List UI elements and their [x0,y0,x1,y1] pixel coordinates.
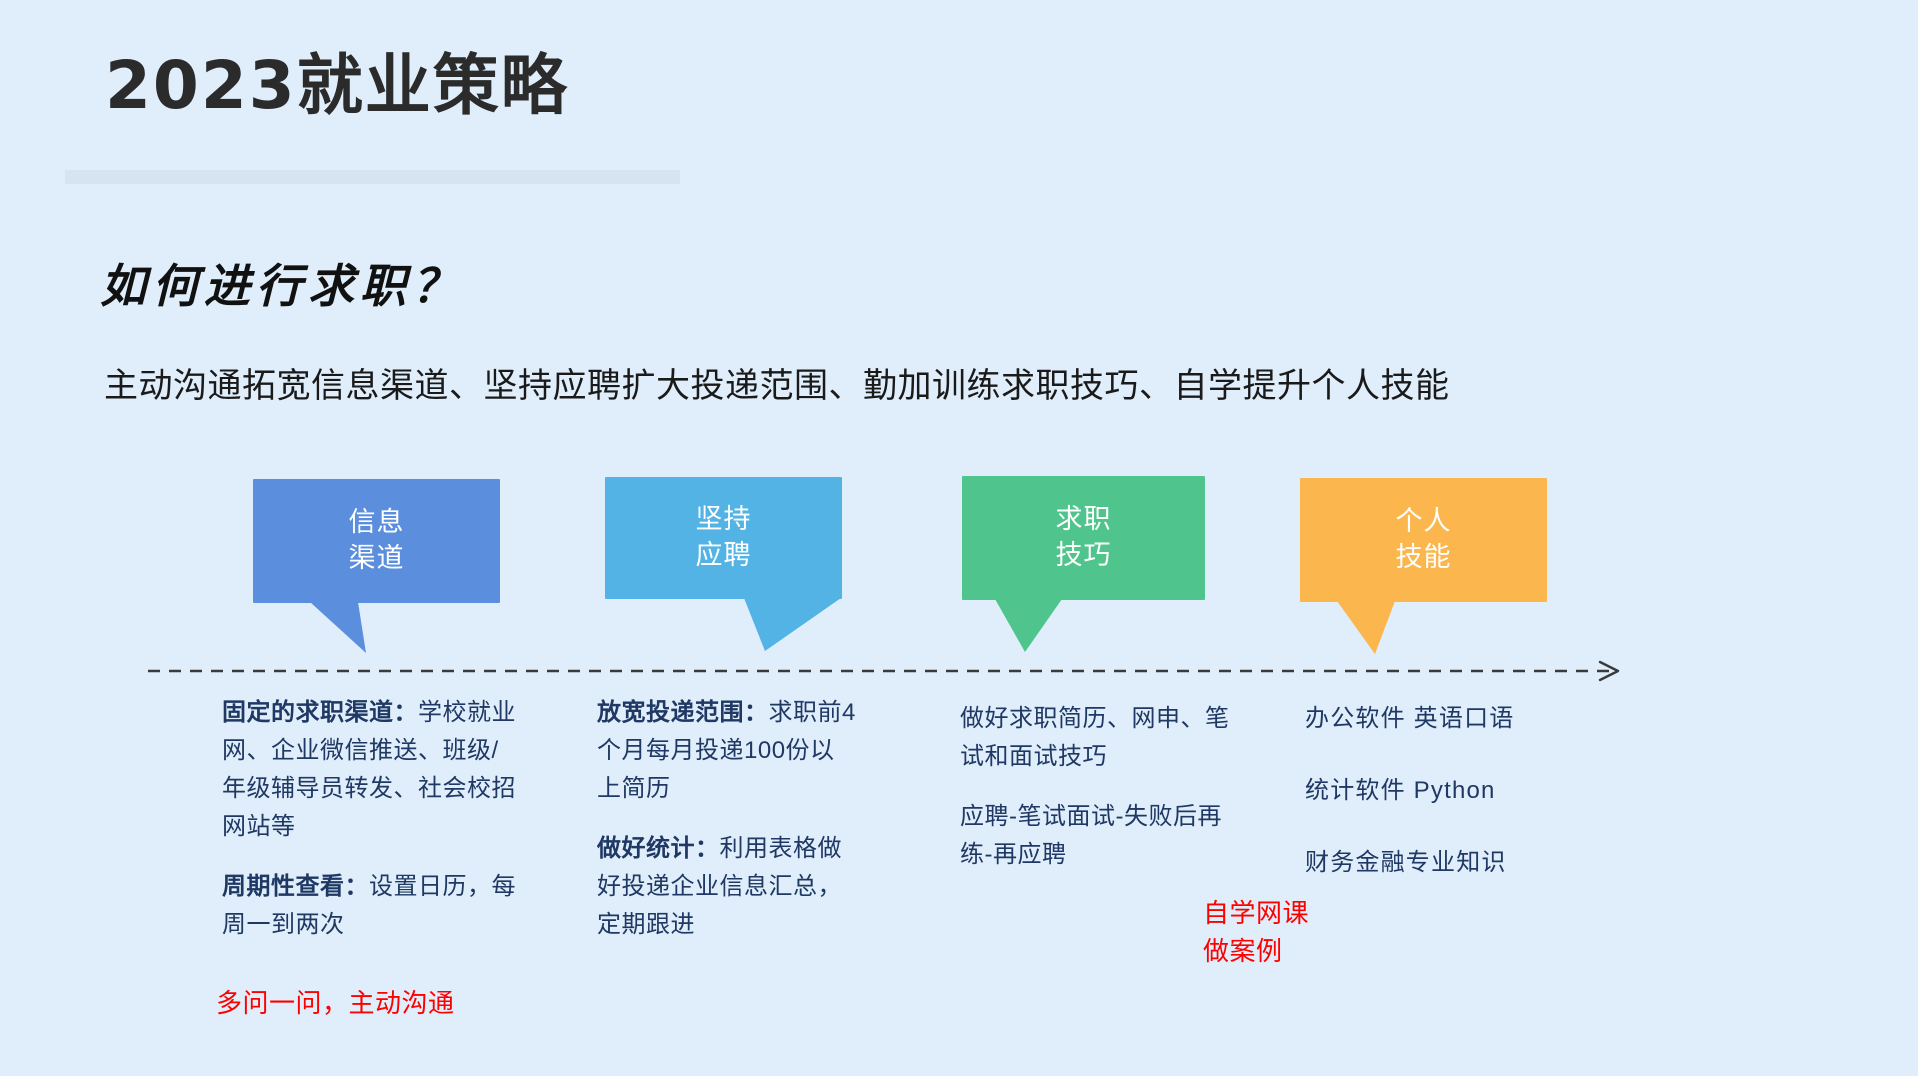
bubble-box: 求职 技巧 [962,476,1205,600]
bubble-tail-icon [253,602,500,654]
block-lead: 周期性查看： [222,873,369,900]
column-block: 周期性查看：设置日历，每周一到两次 [222,868,522,944]
section-heading: 如何进行求职？ [100,250,464,316]
column-block: 做好求职简历、网申、笔试和面试技巧 [960,700,1232,776]
bubble-label: 信息 渠道 [349,505,405,576]
column-job-skills: 做好求职简历、网申、笔试和面试技巧 应聘-笔试面试-失败后再练-再应聘 [960,700,1232,874]
column-block: 做好统计：利用表格做好投递企业信息汇总，定期跟进 [597,830,859,944]
page-title: 2023就业策略 [105,48,569,124]
skill-line: 财务金融专业知识 [1305,844,1595,882]
bubble-label: 坚持 应聘 [696,502,752,573]
bubble-box: 信息 渠道 [253,479,500,603]
block-lead: 固定的求职渠道： [222,699,418,726]
bubble-personal-skills[interactable]: 个人 技能 [1300,478,1547,653]
note-ask-more: 多问一问，主动沟通 [216,985,455,1023]
bubble-box: 个人 技能 [1300,478,1547,602]
block-text: 做好求职简历、网申、笔试和面试技巧 [960,705,1230,770]
column-block: 放宽投递范围：求职前4个月每月投递100份以上简历 [597,694,859,808]
bubble-tail-icon [962,599,1205,653]
column-info-channel: 固定的求职渠道：学校就业网、企业微信推送、班级/年级辅导员转发、社会校招网站等 … [222,694,522,943]
title-underline-bar [65,170,680,184]
bubble-info-channel[interactable]: 信息 渠道 [253,479,500,653]
skill-line: 统计软件 Python [1305,772,1595,810]
slide-canvas: 2023就业策略 如何进行求职？ 主动沟通拓宽信息渠道、坚持应聘扩大投递范围、勤… [0,0,1918,1076]
bubble-label: 求职 技巧 [1056,502,1112,573]
note-self-study: 自学网课 做案例 [1203,895,1309,970]
lead-paragraph: 主动沟通拓宽信息渠道、坚持应聘扩大投递范围、勤加训练求职技巧、自学提升个人技能 [104,358,1450,407]
bubble-job-skills[interactable]: 求职 技巧 [962,476,1205,651]
column-persist-apply: 放宽投递范围：求职前4个月每月投递100份以上简历 做好统计：利用表格做好投递企… [597,694,859,943]
column-block: 固定的求职渠道：学校就业网、企业微信推送、班级/年级辅导员转发、社会校招网站等 [222,694,522,846]
bubble-persist-apply[interactable]: 坚持 应聘 [605,477,842,651]
bubble-label: 个人 技能 [1396,504,1452,575]
timeline-arrow [148,660,1638,682]
block-lead: 放宽投递范围： [597,699,769,726]
bubble-box: 坚持 应聘 [605,477,842,599]
block-lead: 做好统计： [597,835,720,862]
column-personal-skills: 办公软件 英语口语 统计软件 Python 财务金融专业知识 [1305,700,1595,916]
column-block: 应聘-笔试面试-失败后再练-再应聘 [960,798,1232,874]
bubble-tail-icon [605,598,842,652]
bubble-tail-icon [1300,601,1547,655]
block-text: 应聘-笔试面试-失败后再练-再应聘 [960,803,1222,868]
skill-line: 办公软件 英语口语 [1305,700,1595,738]
